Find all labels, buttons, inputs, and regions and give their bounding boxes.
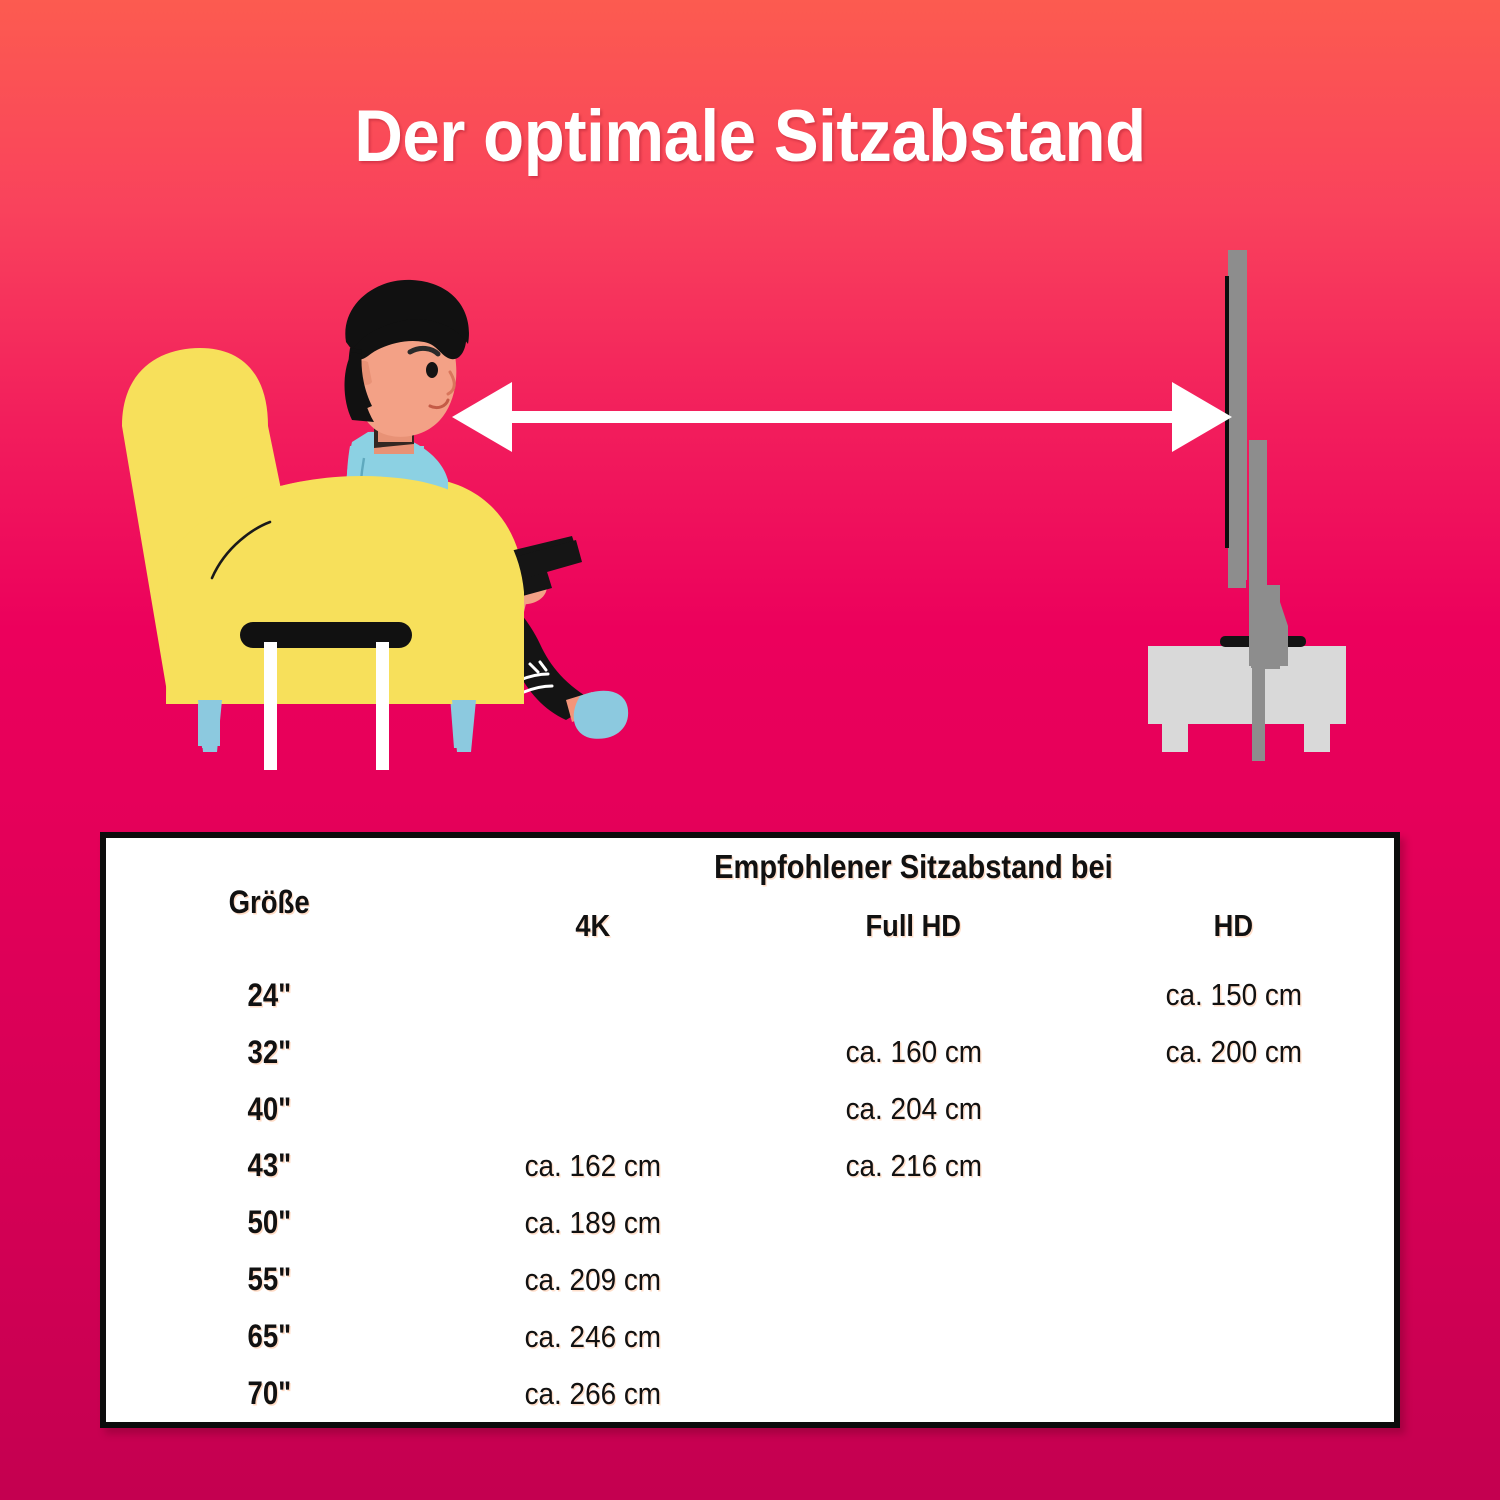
header-group-label: Empfohlener Sitzabstand bei bbox=[714, 848, 1113, 886]
distance-arrow bbox=[452, 382, 1232, 452]
header-size-label: Größe bbox=[229, 884, 310, 921]
header-cell-group: Empfohlener Sitzabstand bei 4K Full HD H… bbox=[433, 838, 1394, 967]
cell-4k bbox=[433, 1024, 753, 1081]
cell-size: 70" bbox=[106, 1365, 433, 1422]
header-sub-hd: HD bbox=[1074, 900, 1394, 952]
cell-hd bbox=[1074, 1081, 1394, 1138]
cell-hd bbox=[1074, 1194, 1394, 1251]
cell-size: 50" bbox=[106, 1194, 433, 1251]
cell-fullhd bbox=[753, 1194, 1073, 1251]
cell-hd bbox=[1074, 1308, 1394, 1365]
armchair-seat-front bbox=[166, 476, 524, 752]
table-row: 65" ca. 246 cm bbox=[106, 1308, 1394, 1365]
header-sub-fullhd: Full HD bbox=[753, 900, 1073, 952]
cell-size: 24" bbox=[106, 967, 433, 1024]
cell-fullhd: ca. 160 cm bbox=[753, 1024, 1073, 1081]
cell-hd bbox=[1074, 1138, 1394, 1195]
cell-fullhd bbox=[753, 1308, 1073, 1365]
cell-4k: ca. 209 cm bbox=[433, 1251, 753, 1308]
page-title: Der optimale Sitzabstand bbox=[60, 95, 1440, 178]
table-row: 40" ca. 204 cm bbox=[106, 1081, 1394, 1138]
table-row: 24" ca. 150 cm bbox=[106, 967, 1394, 1024]
table-row: 32" ca. 160 cm ca. 200 cm bbox=[106, 1024, 1394, 1081]
sitzabstand-table: Größe Empfohlener Sitzabstand bei 4K bbox=[100, 832, 1400, 1428]
cell-size: 32" bbox=[106, 1024, 433, 1081]
table-row: 70" ca. 266 cm bbox=[106, 1365, 1394, 1422]
cell-4k: ca. 162 cm bbox=[433, 1138, 753, 1195]
cell-fullhd: ca. 216 cm bbox=[753, 1138, 1073, 1195]
cell-hd: ca. 150 cm bbox=[1074, 967, 1394, 1024]
table-header-row: Größe Empfohlener Sitzabstand bei 4K bbox=[106, 838, 1394, 967]
cell-hd bbox=[1074, 1251, 1394, 1308]
cell-size: 43" bbox=[106, 1138, 433, 1195]
cell-fullhd bbox=[753, 1365, 1073, 1422]
cell-4k: ca. 246 cm bbox=[433, 1308, 753, 1365]
cell-hd: ca. 200 cm bbox=[1074, 1024, 1394, 1081]
cell-size: 40" bbox=[106, 1081, 433, 1138]
table-row: 43" ca. 162 cm ca. 216 cm bbox=[106, 1138, 1394, 1195]
table-row: 55" ca. 209 cm bbox=[106, 1251, 1394, 1308]
cell-4k bbox=[433, 1081, 753, 1138]
cell-fullhd bbox=[753, 967, 1073, 1024]
cell-size: 55" bbox=[106, 1251, 433, 1308]
cell-size: 65" bbox=[106, 1308, 433, 1365]
header-sub-4k: 4K bbox=[433, 900, 753, 952]
cell-fullhd: ca. 204 cm bbox=[753, 1081, 1073, 1138]
cell-hd bbox=[1074, 1365, 1394, 1422]
header-cell-size: Größe bbox=[106, 838, 433, 967]
cell-4k: ca. 266 cm bbox=[433, 1365, 753, 1422]
tv-cabinet bbox=[1148, 646, 1346, 752]
cell-4k bbox=[433, 967, 753, 1024]
cell-4k: ca. 189 cm bbox=[433, 1194, 753, 1251]
illustration-area bbox=[0, 230, 1500, 800]
table-row: 50" ca. 189 cm bbox=[106, 1194, 1394, 1251]
cell-fullhd bbox=[753, 1251, 1073, 1308]
